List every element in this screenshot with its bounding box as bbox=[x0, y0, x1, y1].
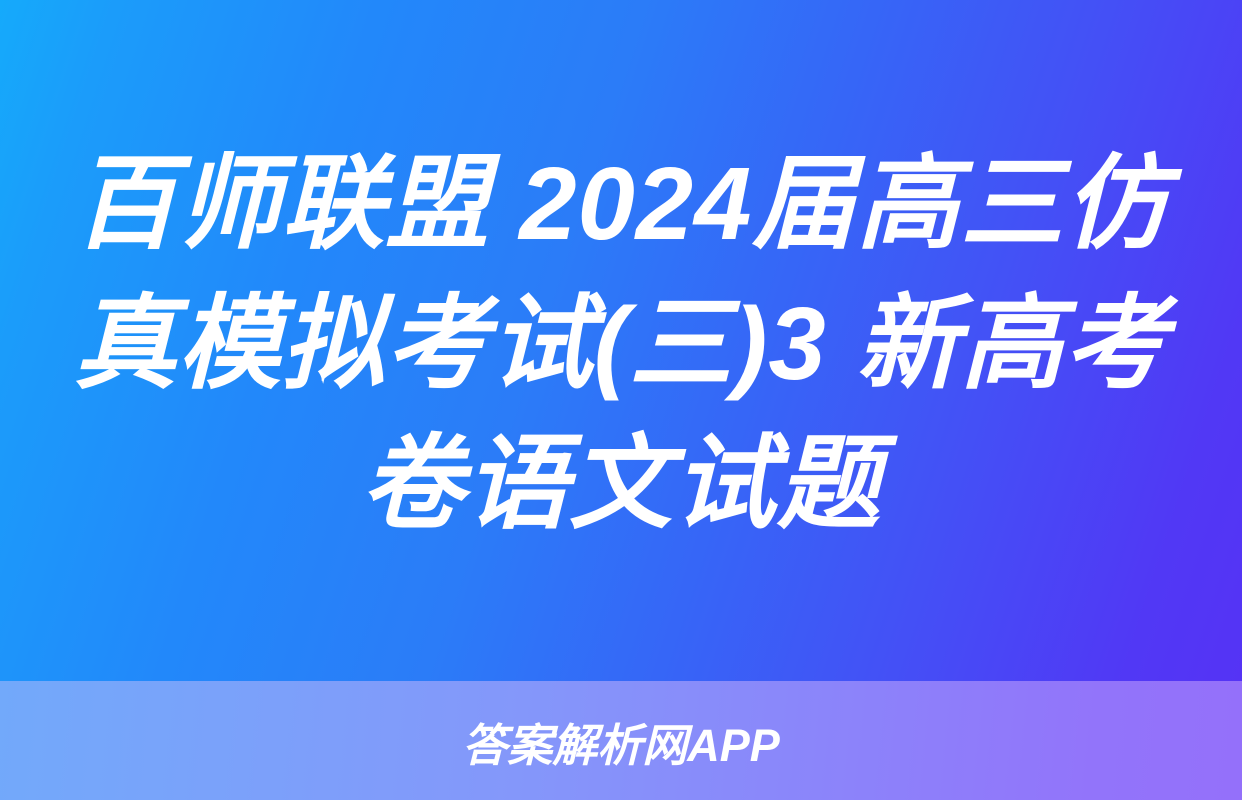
watermark-brand-label: 答案解析网APP bbox=[462, 709, 780, 774]
poster-title-line-1: 百师联盟 2024届高三仿 bbox=[74, 134, 1169, 274]
watermark-band: 答案解析网APP bbox=[0, 681, 1242, 800]
poster-title-line-2: 真模拟考试(三)3 新高考 bbox=[74, 274, 1169, 414]
exam-cover-poster: 百师联盟 2024届高三仿 真模拟考试(三)3 新高考 卷语文试题 答案解析网A… bbox=[0, 0, 1242, 800]
poster-title-line-3: 卷语文试题 bbox=[361, 414, 881, 554]
poster-title-block: 百师联盟 2024届高三仿 真模拟考试(三)3 新高考 卷语文试题 bbox=[0, 0, 1242, 681]
